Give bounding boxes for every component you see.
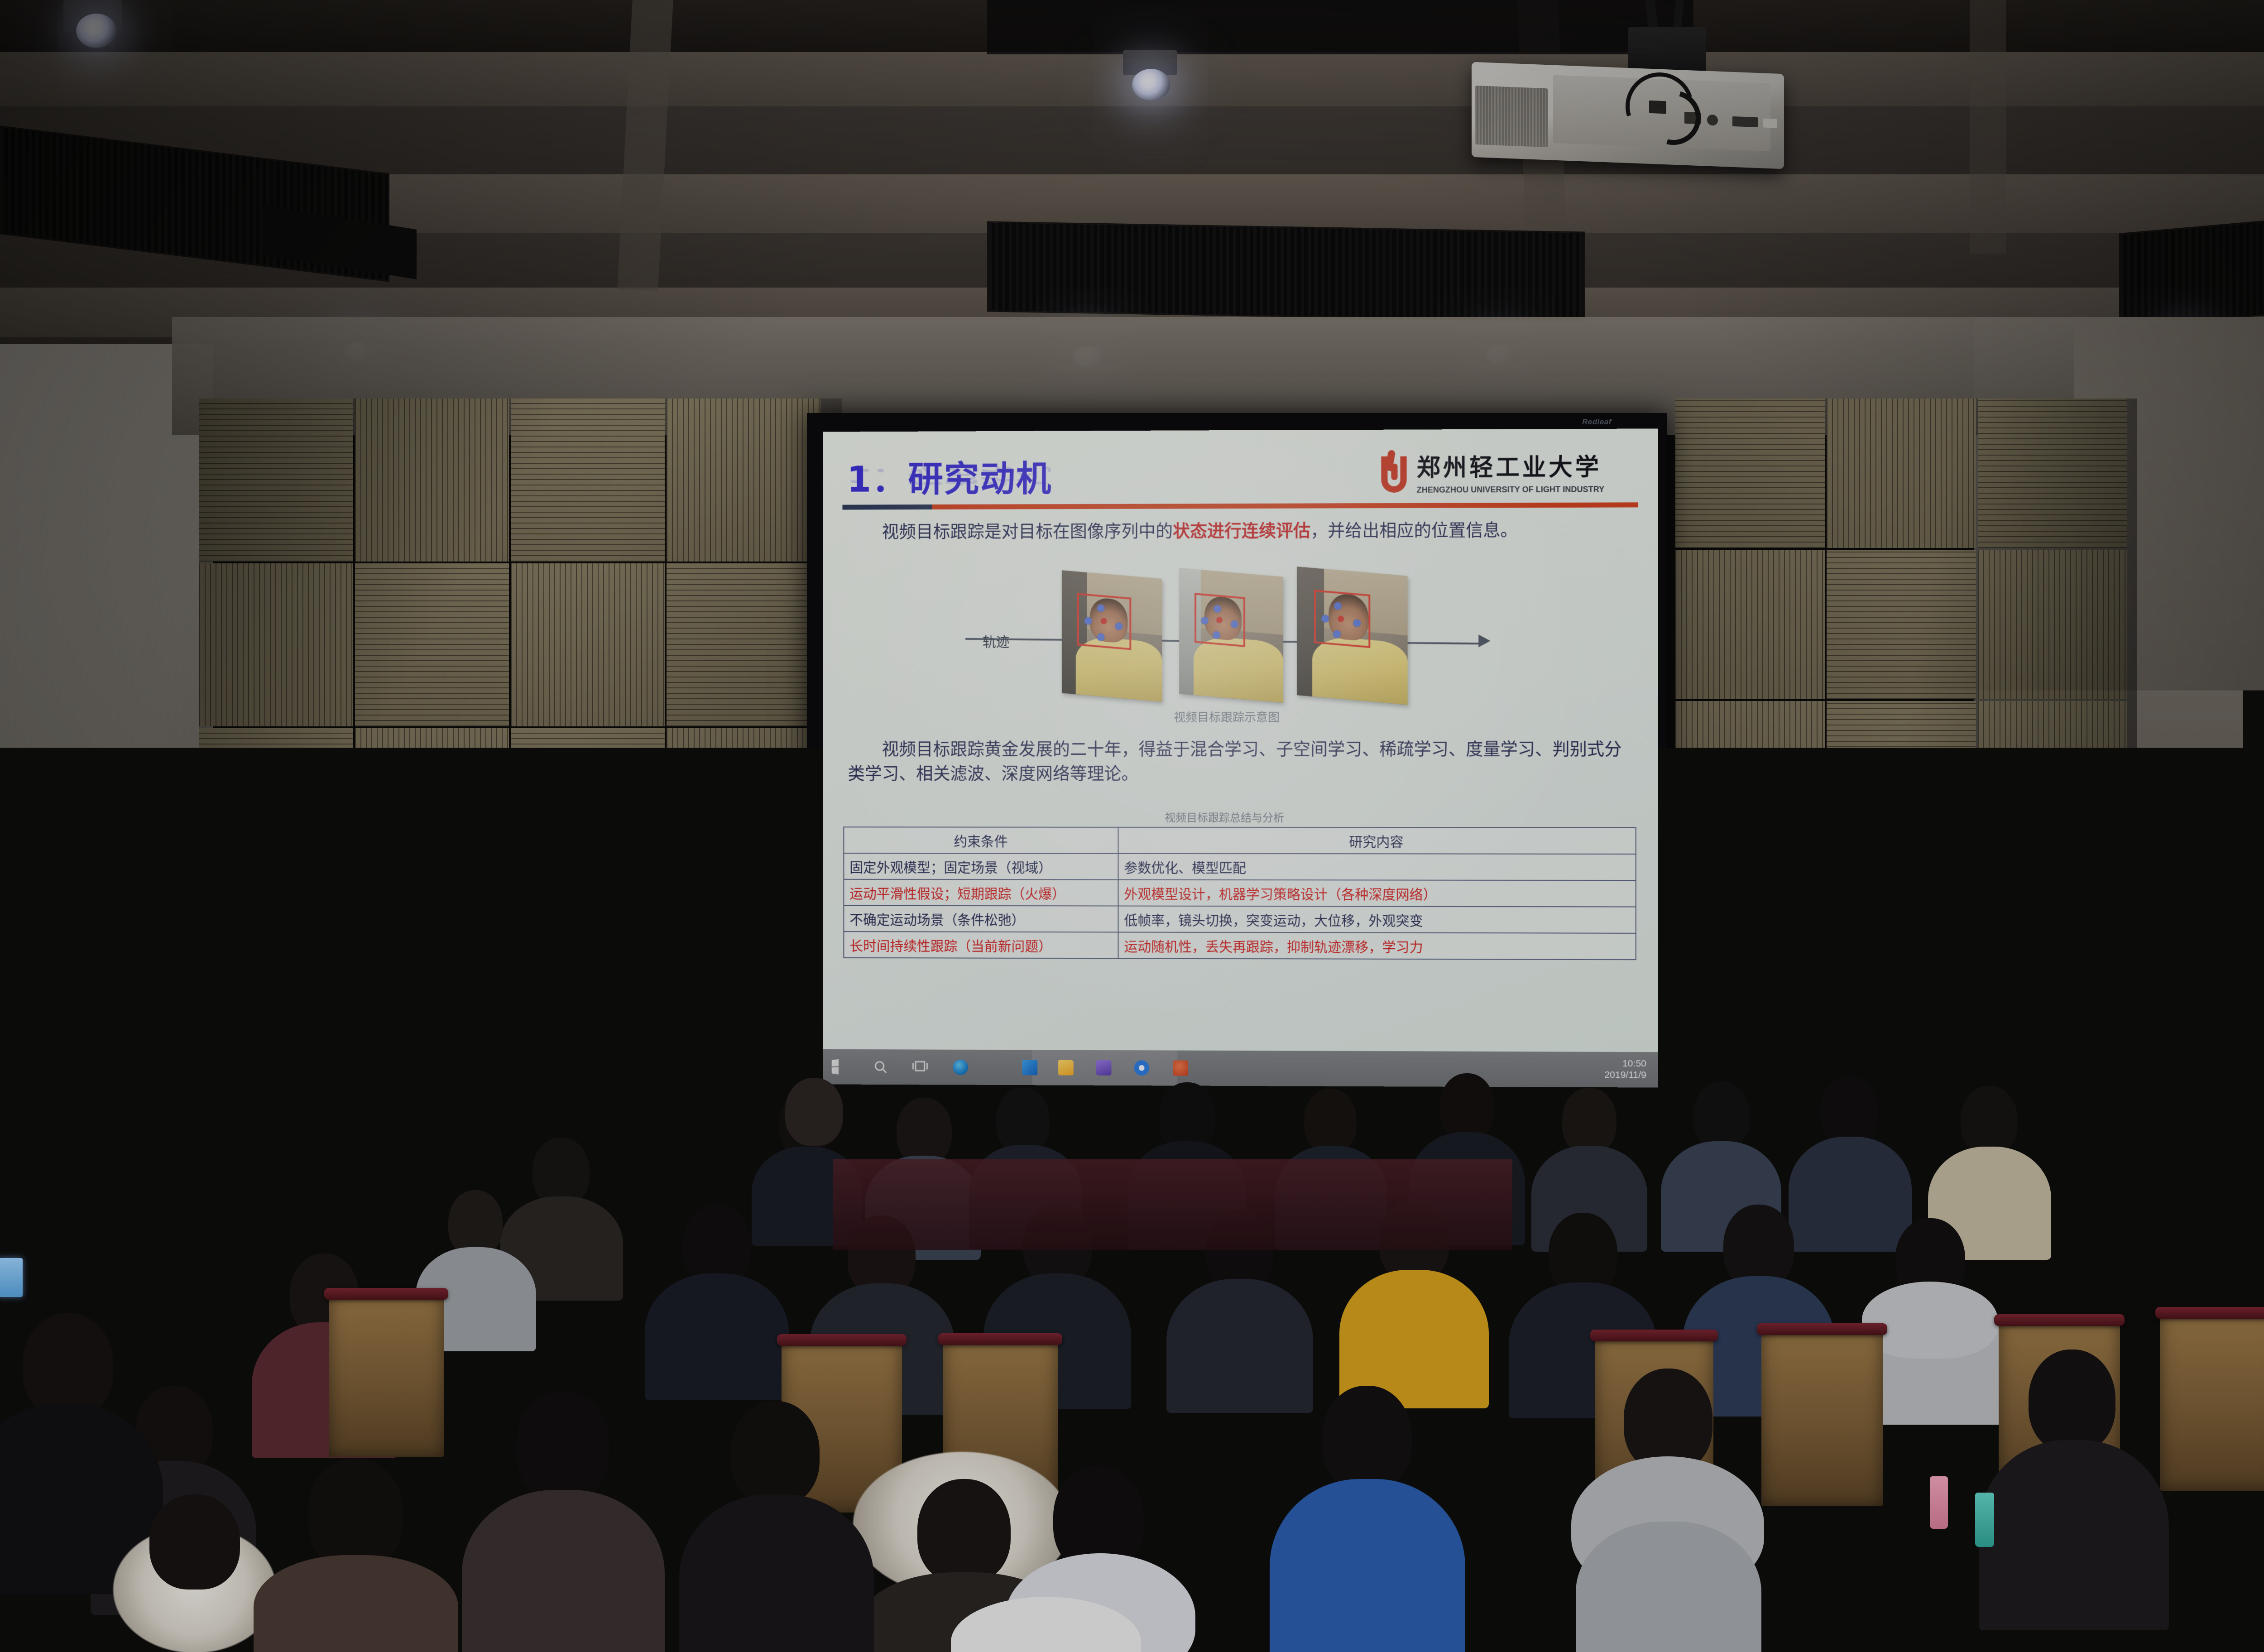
table-cell: 参数优化、模型匹配 (1118, 854, 1636, 881)
audience-head (1159, 1082, 1215, 1150)
slide-paragraph-1: 视频目标跟踪是对目标在图像序列中的状态进行连续评估，并给出相应的位置信息。 (848, 518, 1631, 545)
slide-paragraph-2: 视频目标跟踪黄金发展的二十年，得益于混合学习、子空间学习、稀疏学习、度量学习、判… (848, 737, 1635, 786)
presenter-hair (549, 811, 620, 864)
table-caption: 视频目标跟踪总结与分析 (1165, 809, 1284, 825)
seat[interactable] (2160, 1313, 2264, 1491)
table-row: 不确定运动场景（条件松弛）低帧率，镜头切换，突变运动，大位移，外观突变 (844, 905, 1636, 933)
microphone-led (725, 943, 730, 947)
microphone-head (718, 901, 727, 919)
ceiling-dark-strip (987, 0, 1693, 54)
table-cell: 运动平滑性假设；短期跟踪（火爆） (844, 879, 1118, 906)
audience-head (996, 1088, 1050, 1153)
logo-name-cn: 郑州轻工业大学 (1417, 448, 1605, 483)
podium-sign-cn-2: 信息工程学院 (659, 1042, 754, 1064)
water-bottle[interactable] (1975, 1493, 1994, 1547)
spotlight-2 (1132, 69, 1170, 101)
audience-torso (1270, 1479, 1465, 1652)
audience-head (1304, 1089, 1357, 1153)
ceiling-recess-2 (0, 106, 2264, 174)
spotlight-1 (76, 14, 117, 48)
audience-torso (462, 1490, 665, 1652)
ceiling-crossbeam-3 (1970, 0, 2006, 254)
table-cell: 外观模型设计，机器学习策略设计（各种深度网络） (1118, 880, 1636, 907)
table-row: 运动平滑性假设；短期跟踪（火爆）外观模型设计，机器学习策略设计（各种深度网络） (844, 879, 1636, 907)
table-cell: 运动随机性，丢失再跟踪，抑制轨迹漂移，学习力 (1118, 932, 1636, 960)
audience-head (897, 1098, 952, 1165)
table-cell: 长时间持续性跟踪（当前新问题） (844, 932, 1118, 958)
rear-wall-band (1675, 1010, 2083, 1109)
audience (0, 1069, 2264, 1652)
seat[interactable] (1761, 1330, 1883, 1506)
slide-title-reflection: 1．研究动机 (847, 463, 1052, 491)
audience-torso (1979, 1440, 2169, 1630)
audience-head (1322, 1386, 1412, 1491)
audience-torso (1576, 1522, 1761, 1652)
audience-head (448, 1190, 503, 1256)
water-bottle[interactable] (1930, 1476, 1948, 1529)
audience-torso (645, 1273, 789, 1400)
audience-head (1440, 1073, 1494, 1139)
projected-slide: 1．研究动机 1．研究动机 郑州轻工业大学 ZHENGZHOU UNIVERSI… (823, 428, 1658, 1087)
rear-wall-band-2 (833, 1159, 1512, 1250)
table-cell: 低帧率，镜头切换，突变运动，大位移，外观突变 (1118, 906, 1636, 933)
lecture-hall-photo: Redleaf 1．研究动机 1．研究动机 郑州轻工业大学 ZHENGZHOU … (0, 0, 2264, 1652)
podium-sign-en: NORTHWEST A&F UNIVERSITY (539, 1060, 651, 1066)
table-header-cell: 研究内容 (1118, 827, 1636, 854)
figure-caption: 视频目标跟踪示意图 (1174, 708, 1280, 725)
trajectory-label: 轨迹 (983, 631, 1010, 651)
audience-torso (254, 1555, 458, 1652)
audience-torso (1789, 1137, 1912, 1252)
podium-sign: 西北农林科技大学 NORTHWEST A&F UNIVERSITY 信息工程学院 (539, 1040, 754, 1066)
acoustic-wall-right (1675, 399, 2137, 1032)
audience-head (308, 1458, 403, 1570)
summary-table: 约束条件 研究内容 固定外观模型；固定场景（视域）参数优化、模型匹配运动平滑性假… (843, 826, 1636, 960)
seat[interactable] (329, 1294, 444, 1457)
slide-canvas: 1．研究动机 1．研究动机 郑州轻工业大学 ZHENGZHOU UNIVERSI… (823, 428, 1658, 1087)
audience-head (149, 1494, 240, 1590)
audience-head (731, 1401, 820, 1505)
table-row: 长时间持续性跟踪（当前新问题）运动随机性，丢失再跟踪，抑制轨迹漂移，学习力 (844, 932, 1636, 960)
audience-torso (679, 1494, 874, 1652)
monitor-video-frame (589, 951, 722, 1030)
table-cell: 固定外观模型；固定场景（视域） (844, 853, 1118, 880)
phone-screen[interactable] (0, 1258, 23, 1297)
clock-time: 10:50 (1604, 1058, 1646, 1070)
audience-torso (1166, 1279, 1313, 1413)
podium-monitor (588, 950, 724, 1032)
table-header-row: 约束条件 研究内容 (844, 827, 1636, 854)
audience-head (1562, 1088, 1616, 1154)
title-rule (842, 502, 1638, 509)
audience-head (516, 1391, 609, 1500)
audience-head (917, 1479, 1011, 1583)
audience-head (532, 1138, 590, 1205)
university-logo: 郑州轻工业大学 ZHENGZHOU UNIVERSITY OF LIGHT IN… (1377, 448, 1604, 495)
table-header-cell: 约束条件 (844, 827, 1118, 853)
tracking-figure: 轨迹 (962, 571, 1532, 708)
podium-sign-cn-1: 西北农林科技大学 (539, 1040, 651, 1059)
table-cell: 不确定运动场景（条件松弛） (844, 905, 1118, 932)
zzuli-logo-icon (1377, 450, 1410, 494)
audience-head (2029, 1349, 2115, 1452)
logo-name-en: ZHENGZHOU UNIVERSITY OF LIGHT INDUSTRY (1417, 485, 1605, 495)
ceiling-vent-center (987, 221, 1585, 322)
wall-notice-plate (2164, 860, 2244, 906)
audience-head (785, 1078, 843, 1146)
audience-head (23, 1313, 113, 1417)
table-row: 固定外观模型；固定场景（视域）参数优化、模型匹配 (844, 853, 1636, 880)
screen-brand-label: Redleaf (1582, 418, 1612, 427)
trajectory-arrow-icon (1478, 634, 1490, 647)
